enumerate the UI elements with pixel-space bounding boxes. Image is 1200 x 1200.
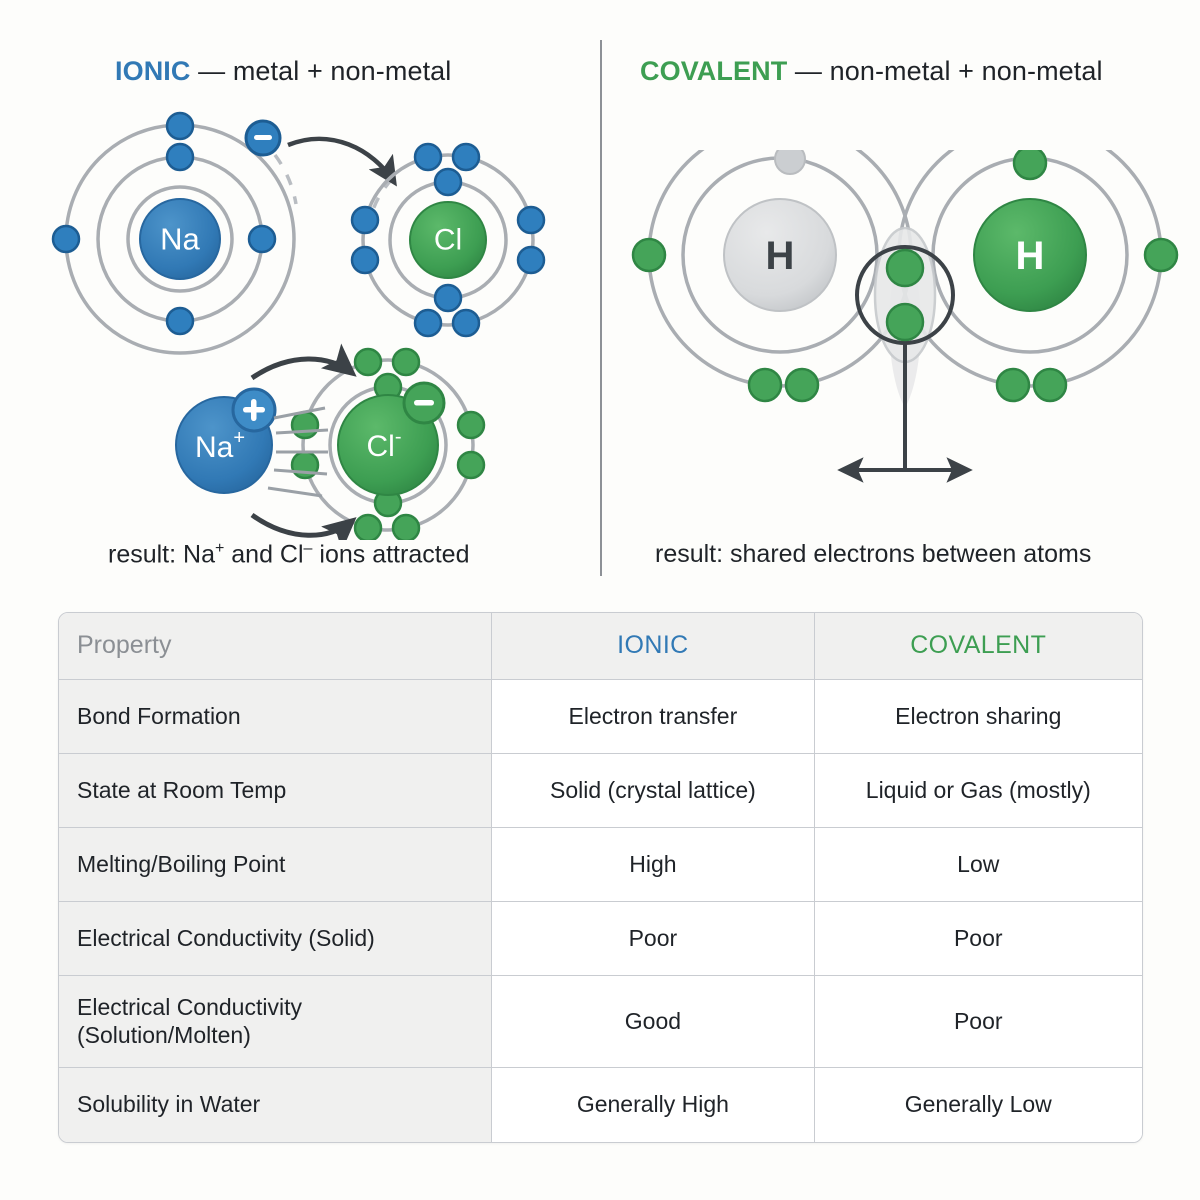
electron xyxy=(167,144,193,170)
shared-electron xyxy=(887,250,923,286)
cell-ionic: Generally High xyxy=(492,1068,814,1142)
electron xyxy=(352,207,378,233)
attraction-line xyxy=(276,430,328,433)
cell-ionic: Good xyxy=(492,976,814,1068)
ionic-subtitle: — metal + non-metal xyxy=(198,56,451,86)
attraction-line xyxy=(274,470,327,474)
electron xyxy=(167,308,193,334)
table-row: Melting/Boiling Point High Low xyxy=(59,828,1142,902)
cell-covalent: Poor xyxy=(815,902,1142,976)
cell-covalent: Poor xyxy=(815,976,1142,1068)
cell-covalent: Liquid or Gas (mostly) xyxy=(815,754,1142,828)
inactive-electron xyxy=(775,150,805,174)
caption-superscript: + xyxy=(215,540,224,557)
electron xyxy=(786,369,818,401)
cell-property: Electrical Conductivity (Solid) xyxy=(59,902,492,976)
caption-text: and Cl xyxy=(224,540,303,568)
cell-ionic: Solid (crystal lattice) xyxy=(492,754,814,828)
table-header: Property IONIC COVALENT xyxy=(59,613,1142,680)
panel-divider xyxy=(600,40,602,576)
electron xyxy=(749,369,781,401)
column-header-ionic: IONIC xyxy=(492,613,814,680)
cell-property: Melting/Boiling Point xyxy=(59,828,492,902)
electron xyxy=(167,113,193,139)
comparison-table: Property IONIC COVALENT Bond Formation E… xyxy=(58,612,1143,1143)
cell-ionic: Electron transfer xyxy=(492,680,814,754)
shared-electron xyxy=(887,304,923,340)
attraction-arrow-bottom xyxy=(252,515,352,535)
table-row: Bond Formation Electron transfer Electro… xyxy=(59,680,1142,754)
hydrogen-atom-left: H xyxy=(633,150,911,401)
cell-covalent: Generally Low xyxy=(815,1068,1142,1142)
electron-transfer-arrow xyxy=(288,139,394,182)
table-row: Solubility in Water Generally High Gener… xyxy=(59,1068,1142,1142)
electron xyxy=(435,285,461,311)
cell-property: State at Room Temp xyxy=(59,754,492,828)
electron xyxy=(292,412,318,438)
cell-ionic: High xyxy=(492,828,814,902)
covalent-subtitle: — non-metal + non-metal xyxy=(795,56,1103,86)
ionic-keyword: IONIC xyxy=(115,56,191,86)
electron xyxy=(518,247,544,273)
ion-attraction-group: Cl- Na+ xyxy=(176,349,484,540)
table-header-row: Property IONIC COVALENT xyxy=(59,613,1142,680)
cell-property: Solubility in Water xyxy=(59,1068,492,1142)
chlorine-nucleus-label: Cl xyxy=(434,224,462,257)
electron xyxy=(393,515,419,540)
electron xyxy=(453,310,479,336)
cell-ionic: Poor xyxy=(492,902,814,976)
electron xyxy=(453,144,479,170)
electron xyxy=(53,226,79,252)
electron xyxy=(997,369,1029,401)
electron xyxy=(1034,369,1066,401)
electron xyxy=(415,144,441,170)
electron xyxy=(435,169,461,195)
covalent-bond-diagram: H H xyxy=(610,150,1200,540)
column-header-property: Property xyxy=(59,613,492,680)
electron xyxy=(355,349,381,375)
hydrogen-atom-right: H xyxy=(899,150,1177,401)
minus-sign-icon xyxy=(254,135,272,140)
table-row: Electrical Conductivity (Solution/Molten… xyxy=(59,976,1142,1068)
electron xyxy=(355,515,381,540)
electron xyxy=(458,412,484,438)
caption-text: result: Na xyxy=(108,540,215,568)
hydrogen-right-label: H xyxy=(1016,234,1045,278)
electron xyxy=(633,239,665,271)
cell-property: Electrical Conductivity (Solution/Molten… xyxy=(59,976,492,1068)
caption-text: ions attracted xyxy=(312,540,469,568)
minus-sign-icon xyxy=(414,400,434,406)
ionic-result-caption: result: Na+ and Cl– ions attracted xyxy=(108,540,469,569)
chlorine-atom: Cl xyxy=(352,144,544,336)
electron xyxy=(352,247,378,273)
table-row: State at Room Temp Solid (crystal lattic… xyxy=(59,754,1142,828)
diagram-canvas: IONIC — metal + non-metal COVALENT — non… xyxy=(0,0,1200,1200)
shared-electron-pair xyxy=(857,228,953,362)
cell-covalent: Low xyxy=(815,828,1142,902)
electron xyxy=(393,349,419,375)
electron xyxy=(249,226,275,252)
ionic-bond-diagram: Na Cl xyxy=(0,100,600,540)
plus-sign-icon xyxy=(251,399,257,421)
electron xyxy=(458,452,484,478)
electron xyxy=(1145,239,1177,271)
column-header-covalent: COVALENT xyxy=(815,613,1142,680)
electron xyxy=(415,310,441,336)
table-body: Bond Formation Electron transfer Electro… xyxy=(59,680,1142,1142)
covalent-panel-title: COVALENT — non-metal + non-metal xyxy=(640,56,1103,87)
covalent-keyword: COVALENT xyxy=(640,56,787,86)
table-row: Electrical Conductivity (Solid) Poor Poo… xyxy=(59,902,1142,976)
sodium-nucleus-label: Na xyxy=(160,222,200,257)
hydrogen-left-label: H xyxy=(766,234,795,278)
electron xyxy=(1014,150,1046,179)
sodium-atom: Na xyxy=(53,113,294,353)
ionic-panel-title: IONIC — metal + non-metal xyxy=(115,56,451,87)
covalent-result-caption: result: shared electrons between atoms xyxy=(655,540,1091,569)
electron xyxy=(518,207,544,233)
cell-property: Bond Formation xyxy=(59,680,492,754)
cell-covalent: Electron sharing xyxy=(815,680,1142,754)
